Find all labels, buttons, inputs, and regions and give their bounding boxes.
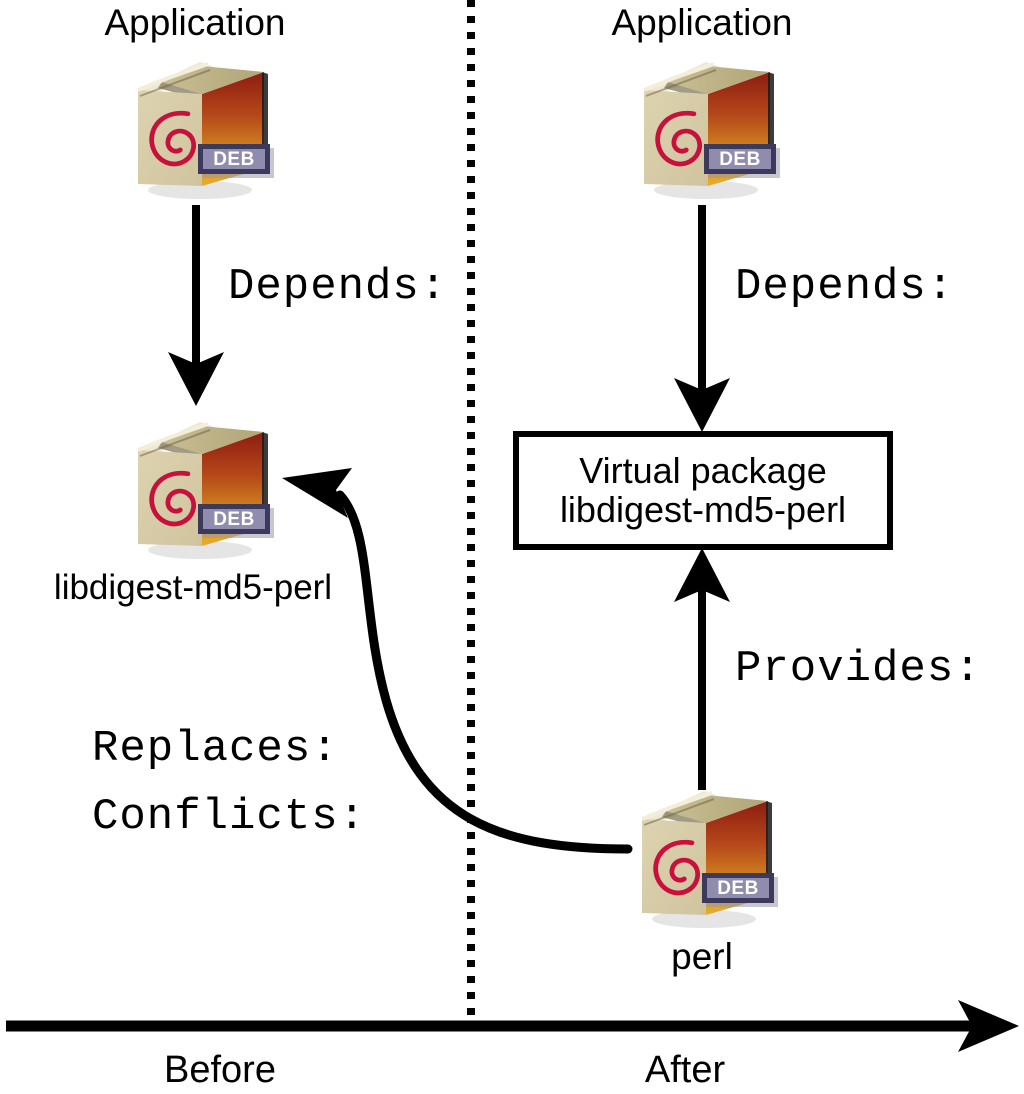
virtual-package-title: Virtual package bbox=[579, 452, 827, 491]
arrow-provides bbox=[674, 548, 730, 790]
after-application-label: Application bbox=[611, 4, 792, 41]
perl-package-label: perl bbox=[671, 938, 733, 975]
replaces-label: Replaces: bbox=[92, 727, 339, 771]
virtual-package-box: Virtual package libdigest-md5-perl bbox=[513, 431, 893, 550]
before-depends-label: Depends: bbox=[228, 265, 447, 309]
svg-text:DEB: DEB bbox=[719, 149, 761, 170]
arrow-depends-before bbox=[168, 205, 224, 406]
after-perl-package-icon: DEB bbox=[620, 781, 780, 931]
before-application-package-icon: DEB bbox=[116, 52, 276, 202]
after-depends-label: Depends: bbox=[735, 265, 954, 309]
after-application-package-icon: DEB bbox=[622, 52, 782, 202]
before-lib-package-label: libdigest-md5-perl bbox=[54, 570, 332, 605]
provides-label: Provides: bbox=[735, 647, 982, 691]
timeline-before-label: Before bbox=[164, 1051, 276, 1089]
time-axis-arrow bbox=[6, 1000, 1019, 1052]
conflicts-label: Conflicts: bbox=[92, 795, 366, 839]
svg-text:DEB: DEB bbox=[213, 149, 255, 170]
arrow-depends-after bbox=[674, 205, 730, 432]
svg-text:DEB: DEB bbox=[717, 878, 759, 899]
virtual-package-name: libdigest-md5-perl bbox=[560, 491, 846, 530]
before-application-label: Application bbox=[104, 4, 285, 41]
diagram-canvas: libdigest-md5-perl (Depends:) --> Virtua… bbox=[0, 0, 1024, 1094]
timeline-after-label: After bbox=[645, 1051, 725, 1089]
before-lib-package-icon: DEB bbox=[116, 412, 276, 562]
svg-text:DEB: DEB bbox=[213, 509, 255, 530]
